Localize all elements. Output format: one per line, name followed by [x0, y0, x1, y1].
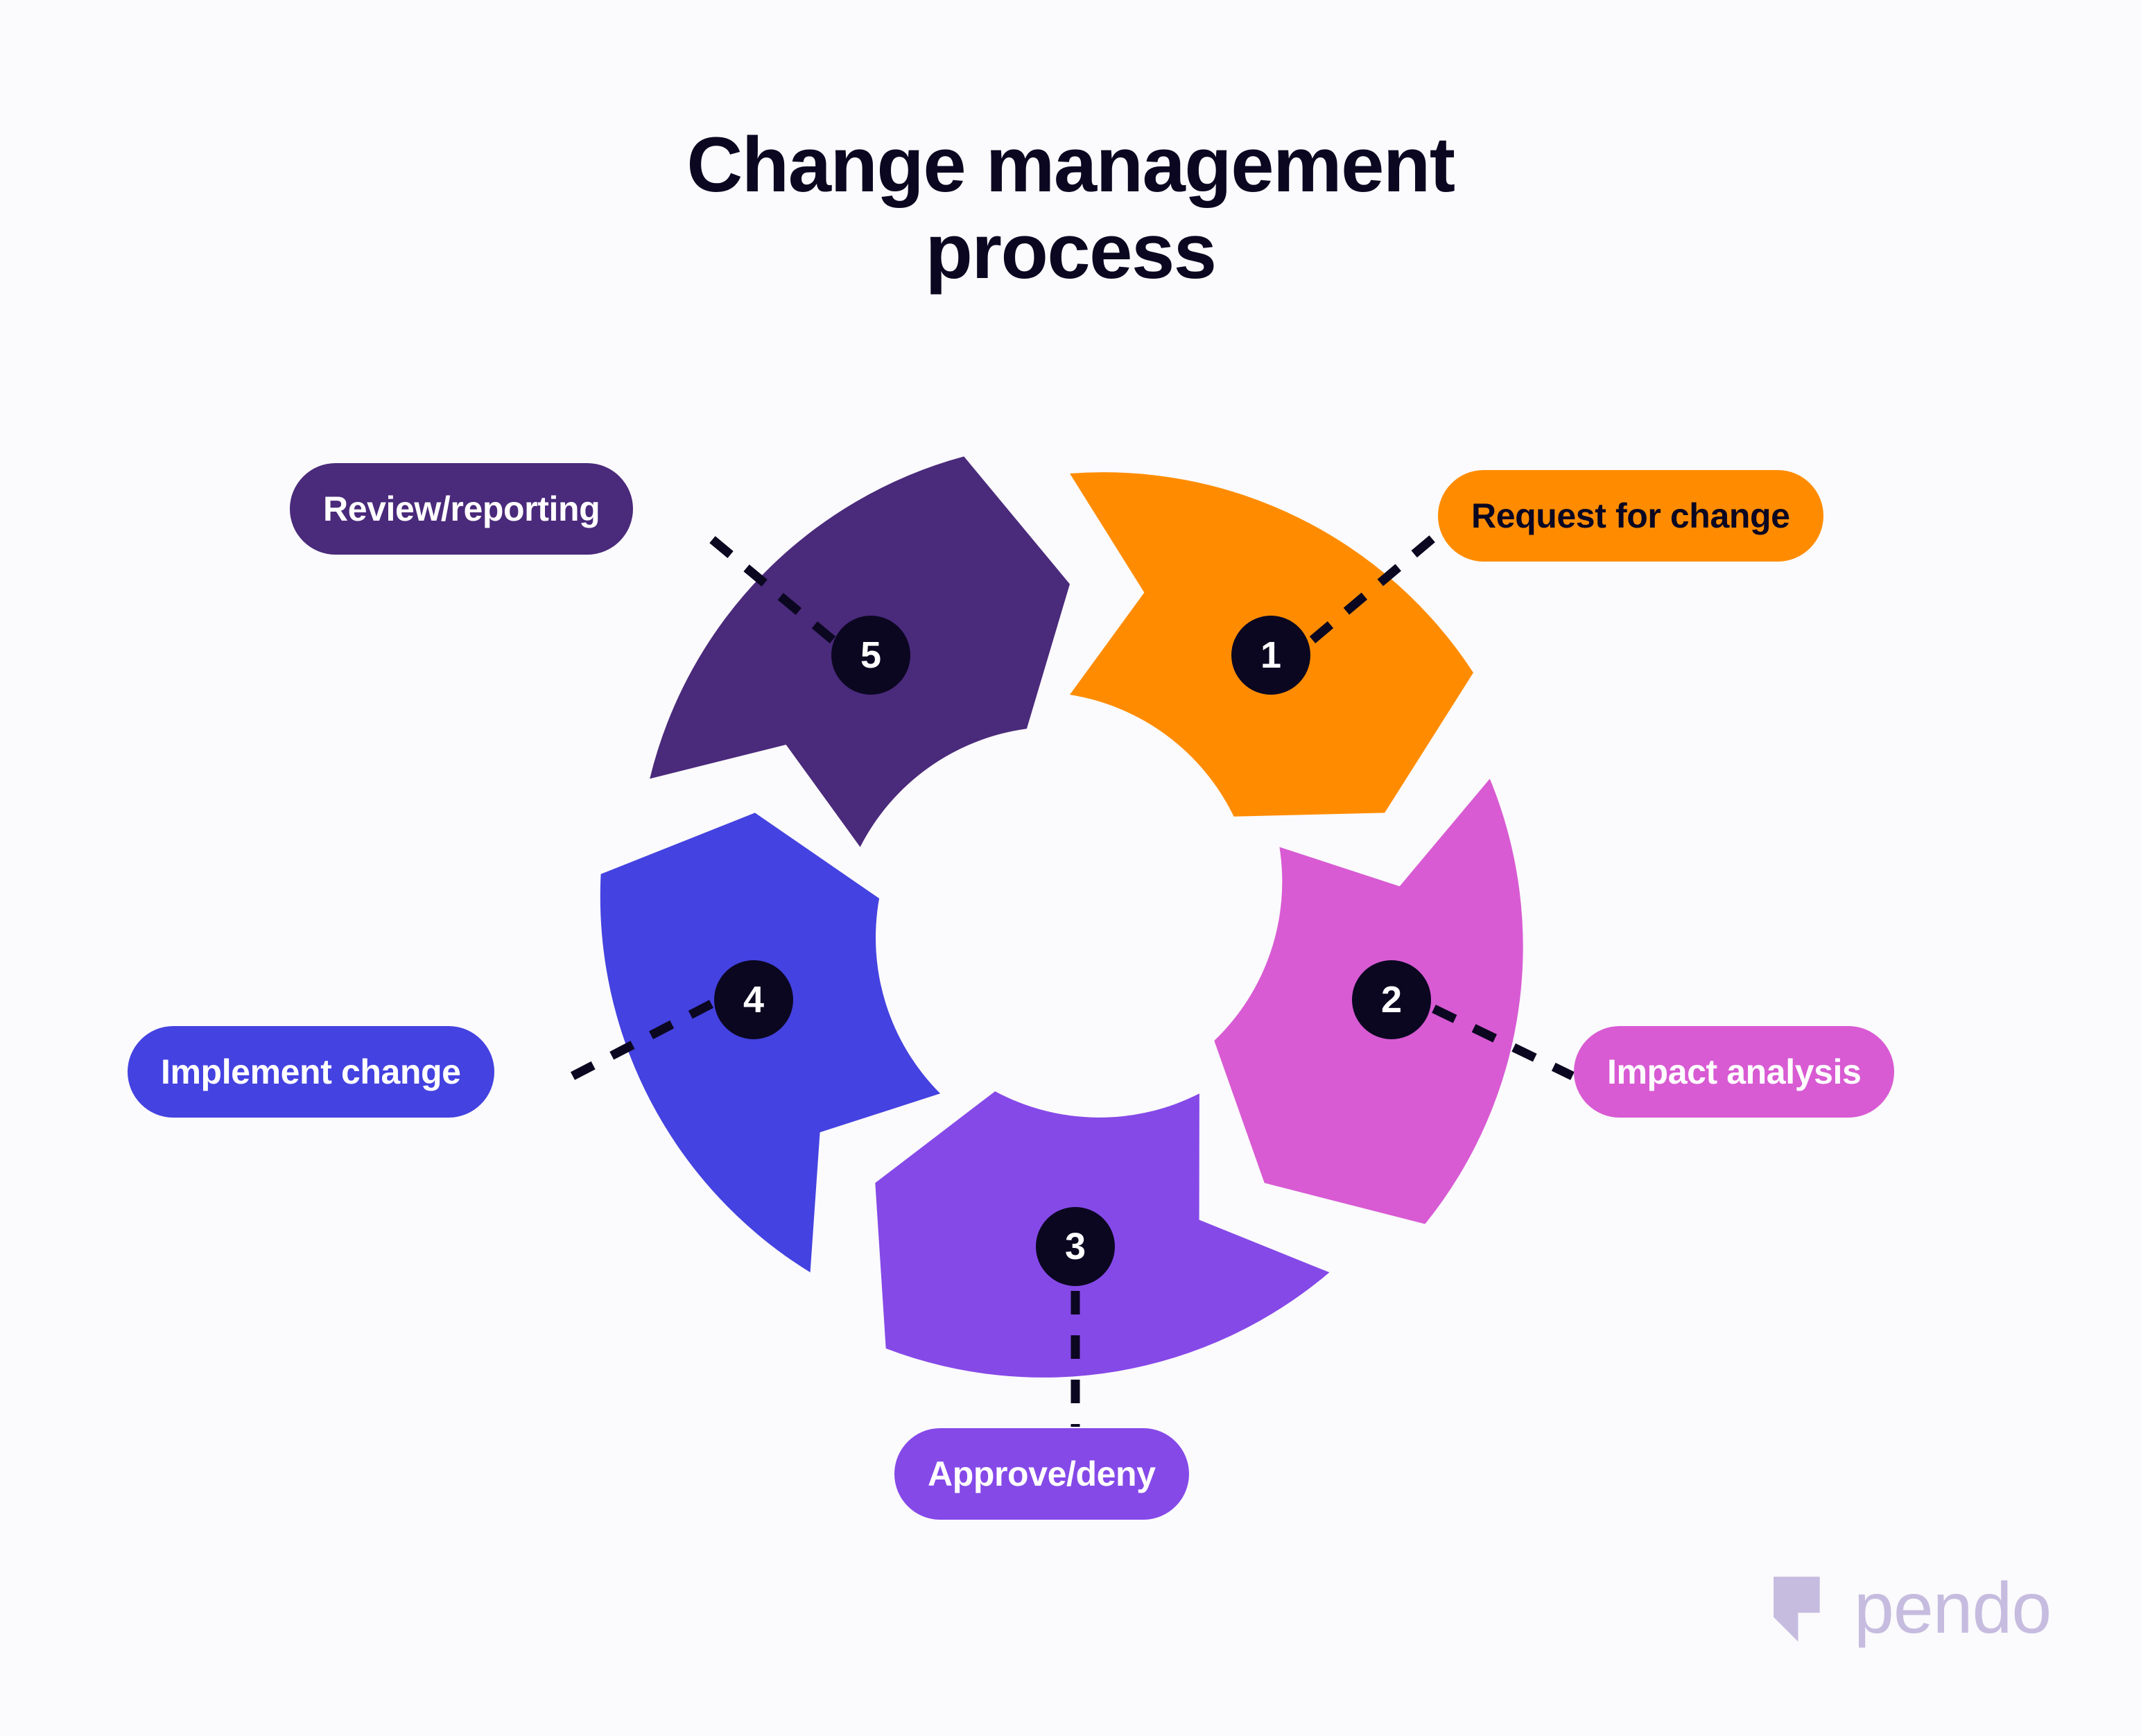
pendo-arrow-icon — [1772, 1572, 1844, 1644]
step-label-implement-change[interactable]: Implement change — [128, 1026, 494, 1118]
pill-text: Implement change — [161, 1052, 461, 1092]
step-label-request-for-change[interactable]: Request for change — [1438, 470, 1823, 562]
step-label-approve-deny[interactable]: Approve/deny — [894, 1428, 1189, 1520]
step-badge-4[interactable]: 4 — [714, 960, 793, 1039]
step-badge-2[interactable]: 2 — [1352, 960, 1431, 1039]
pill-text: Impact analysis — [1607, 1052, 1861, 1092]
pill-text: Review/reporting — [323, 489, 600, 529]
pendo-wordmark: pendo — [1854, 1572, 2051, 1644]
step-badge-5[interactable]: 5 — [831, 616, 910, 695]
pill-text: Approve/deny — [928, 1454, 1156, 1494]
step-label-impact-analysis[interactable]: Impact analysis — [1574, 1026, 1894, 1118]
step-label-review-reporting[interactable]: Review/reporting — [290, 463, 633, 555]
pendo-logo: pendo — [1772, 1567, 2063, 1650]
badge-number: 4 — [743, 978, 764, 1021]
step-badge-1[interactable]: 1 — [1231, 616, 1310, 695]
badge-number: 3 — [1065, 1225, 1086, 1268]
pill-text: Request for change — [1471, 496, 1790, 536]
badge-number: 1 — [1260, 634, 1281, 677]
badge-number: 2 — [1381, 978, 1402, 1021]
step-badge-3[interactable]: 3 — [1036, 1207, 1115, 1286]
badge-number: 5 — [860, 634, 881, 677]
diagram-canvas: Change management process Request for ch… — [0, 0, 2141, 1736]
